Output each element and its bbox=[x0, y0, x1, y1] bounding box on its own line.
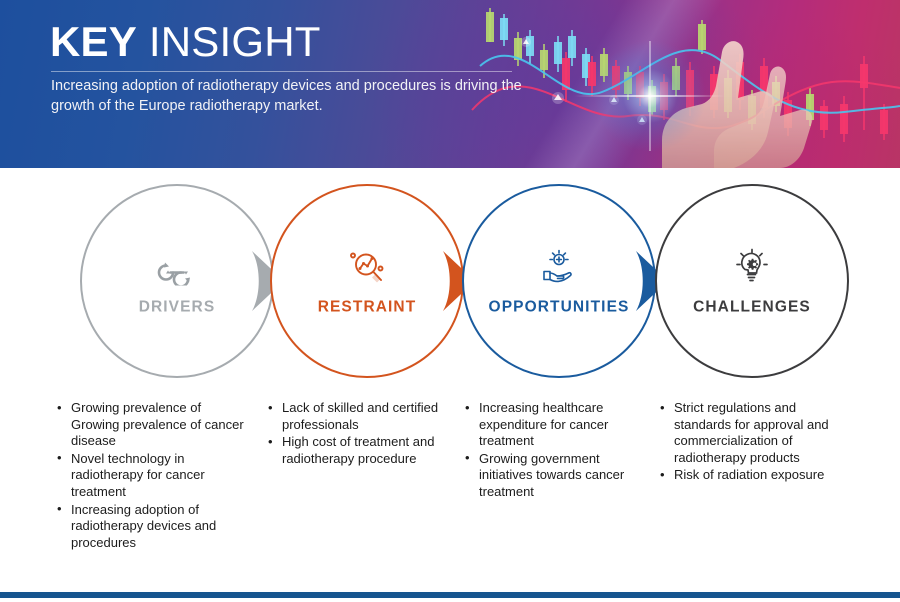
list-item: Strict regulations and standards for app… bbox=[660, 400, 850, 466]
header-divider bbox=[51, 71, 512, 72]
circle-label-challenges: CHALLENGES bbox=[657, 299, 847, 317]
list-item: Increasing healthcare expenditure for ca… bbox=[465, 400, 645, 450]
magnifier-analytics-icon bbox=[272, 246, 462, 286]
list-item: High cost of treatment and radiotherapy … bbox=[268, 434, 448, 467]
list-item: Lack of skilled and certified profession… bbox=[268, 400, 448, 433]
bullet-list: Increasing healthcare expenditure for ca… bbox=[465, 400, 645, 501]
infinity-gears-icon bbox=[82, 246, 272, 286]
circle-label-restraint: RESTRAINT bbox=[272, 299, 462, 317]
list-item: Novel technology in radiotherapy for can… bbox=[57, 451, 247, 501]
bullet-column-challenges: Strict regulations and standards for app… bbox=[660, 400, 850, 485]
circle-node-opportunities[interactable]: OPPORTUNITIES bbox=[462, 184, 656, 378]
list-item: Growing government initiatives towards c… bbox=[465, 451, 645, 501]
bullet-column-drivers: Growing prevalence of Growing prevalence… bbox=[57, 400, 247, 552]
page-title-light: INSIGHT bbox=[149, 18, 321, 65]
bullet-column-restraint: Lack of skilled and certified profession… bbox=[268, 400, 448, 468]
process-flow: DRIVERS bbox=[0, 184, 900, 382]
hand-holding-medical-sun-icon bbox=[464, 246, 654, 286]
list-item: Increasing adoption of radiotherapy devi… bbox=[57, 502, 247, 552]
page-title-bold: KEY bbox=[50, 18, 137, 65]
circle-label-drivers: DRIVERS bbox=[82, 299, 272, 317]
bullet-columns: Growing prevalence of Growing prevalence… bbox=[0, 400, 900, 560]
list-item: Risk of radiation exposure bbox=[660, 467, 850, 484]
footer-accent-bar bbox=[0, 592, 900, 598]
header-banner: KEY INSIGHT Increasing adoption of radio… bbox=[0, 0, 900, 168]
circle-label-opportunities: OPPORTUNITIES bbox=[464, 299, 654, 317]
bullet-column-opportunities: Increasing healthcare expenditure for ca… bbox=[465, 400, 645, 502]
circle-node-restraint[interactable]: RESTRAINT bbox=[270, 184, 464, 378]
bullet-list: Growing prevalence of Growing prevalence… bbox=[57, 400, 247, 551]
circle-node-drivers[interactable]: DRIVERS bbox=[80, 184, 274, 378]
bullet-list: Strict regulations and standards for app… bbox=[660, 400, 850, 484]
bullet-list: Lack of skilled and certified profession… bbox=[268, 400, 448, 467]
lightbulb-gear-icon bbox=[657, 246, 847, 286]
list-item: Growing prevalence of Growing prevalence… bbox=[57, 400, 247, 450]
header-subtitle: Increasing adoption of radiotherapy devi… bbox=[51, 77, 531, 116]
page-title: KEY INSIGHT bbox=[50, 18, 321, 66]
key-insight-infographic: KEY INSIGHT Increasing adoption of radio… bbox=[0, 0, 900, 602]
circle-node-challenges[interactable]: CHALLENGES bbox=[655, 184, 849, 378]
